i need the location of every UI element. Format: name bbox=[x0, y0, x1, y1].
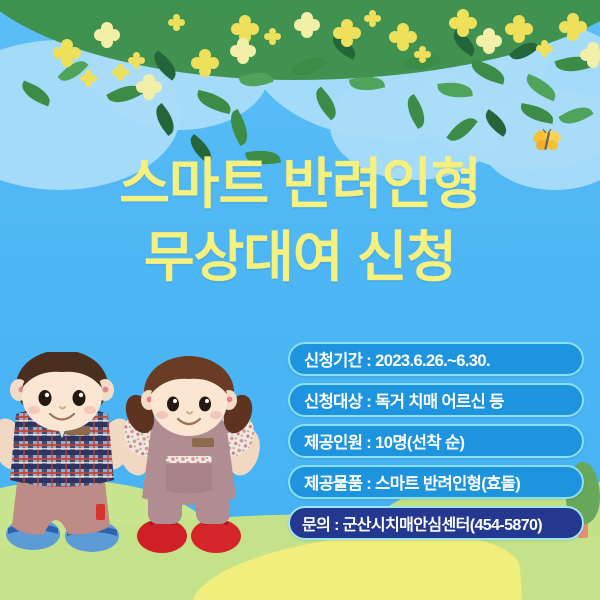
poster-title: 스마트 반려인형 무상대여 신청 bbox=[0, 148, 600, 293]
info-box-list: 신청기간 : 2023.6.26.~6.30. 신청대상 : 독거 치매 어르신… bbox=[288, 342, 584, 540]
info-box-item-provided: 제공물품 : 스마트 반려인형(효돌) bbox=[288, 465, 584, 499]
info-box-contact: 문의 : 군산시치매안심센터(454-5870) bbox=[288, 506, 584, 540]
info-box-eligibility: 신청대상 : 독거 치매 어르신 등 bbox=[288, 383, 584, 417]
info-box-quota: 제공인원 : 10명(선착 순) bbox=[288, 424, 584, 458]
companion-dolls-photo bbox=[0, 352, 300, 562]
cloud-shape bbox=[90, 10, 270, 130]
title-line-1: 스마트 반려인형 bbox=[0, 148, 600, 221]
poster-root: 스마트 반려인형 무상대여 신청 bbox=[0, 0, 600, 600]
info-box-application-period: 신청기간 : 2023.6.26.~6.30. bbox=[288, 342, 584, 376]
title-line-2: 무상대여 신청 bbox=[0, 221, 600, 294]
boy-doll bbox=[0, 352, 138, 552]
girl-doll bbox=[113, 356, 265, 553]
